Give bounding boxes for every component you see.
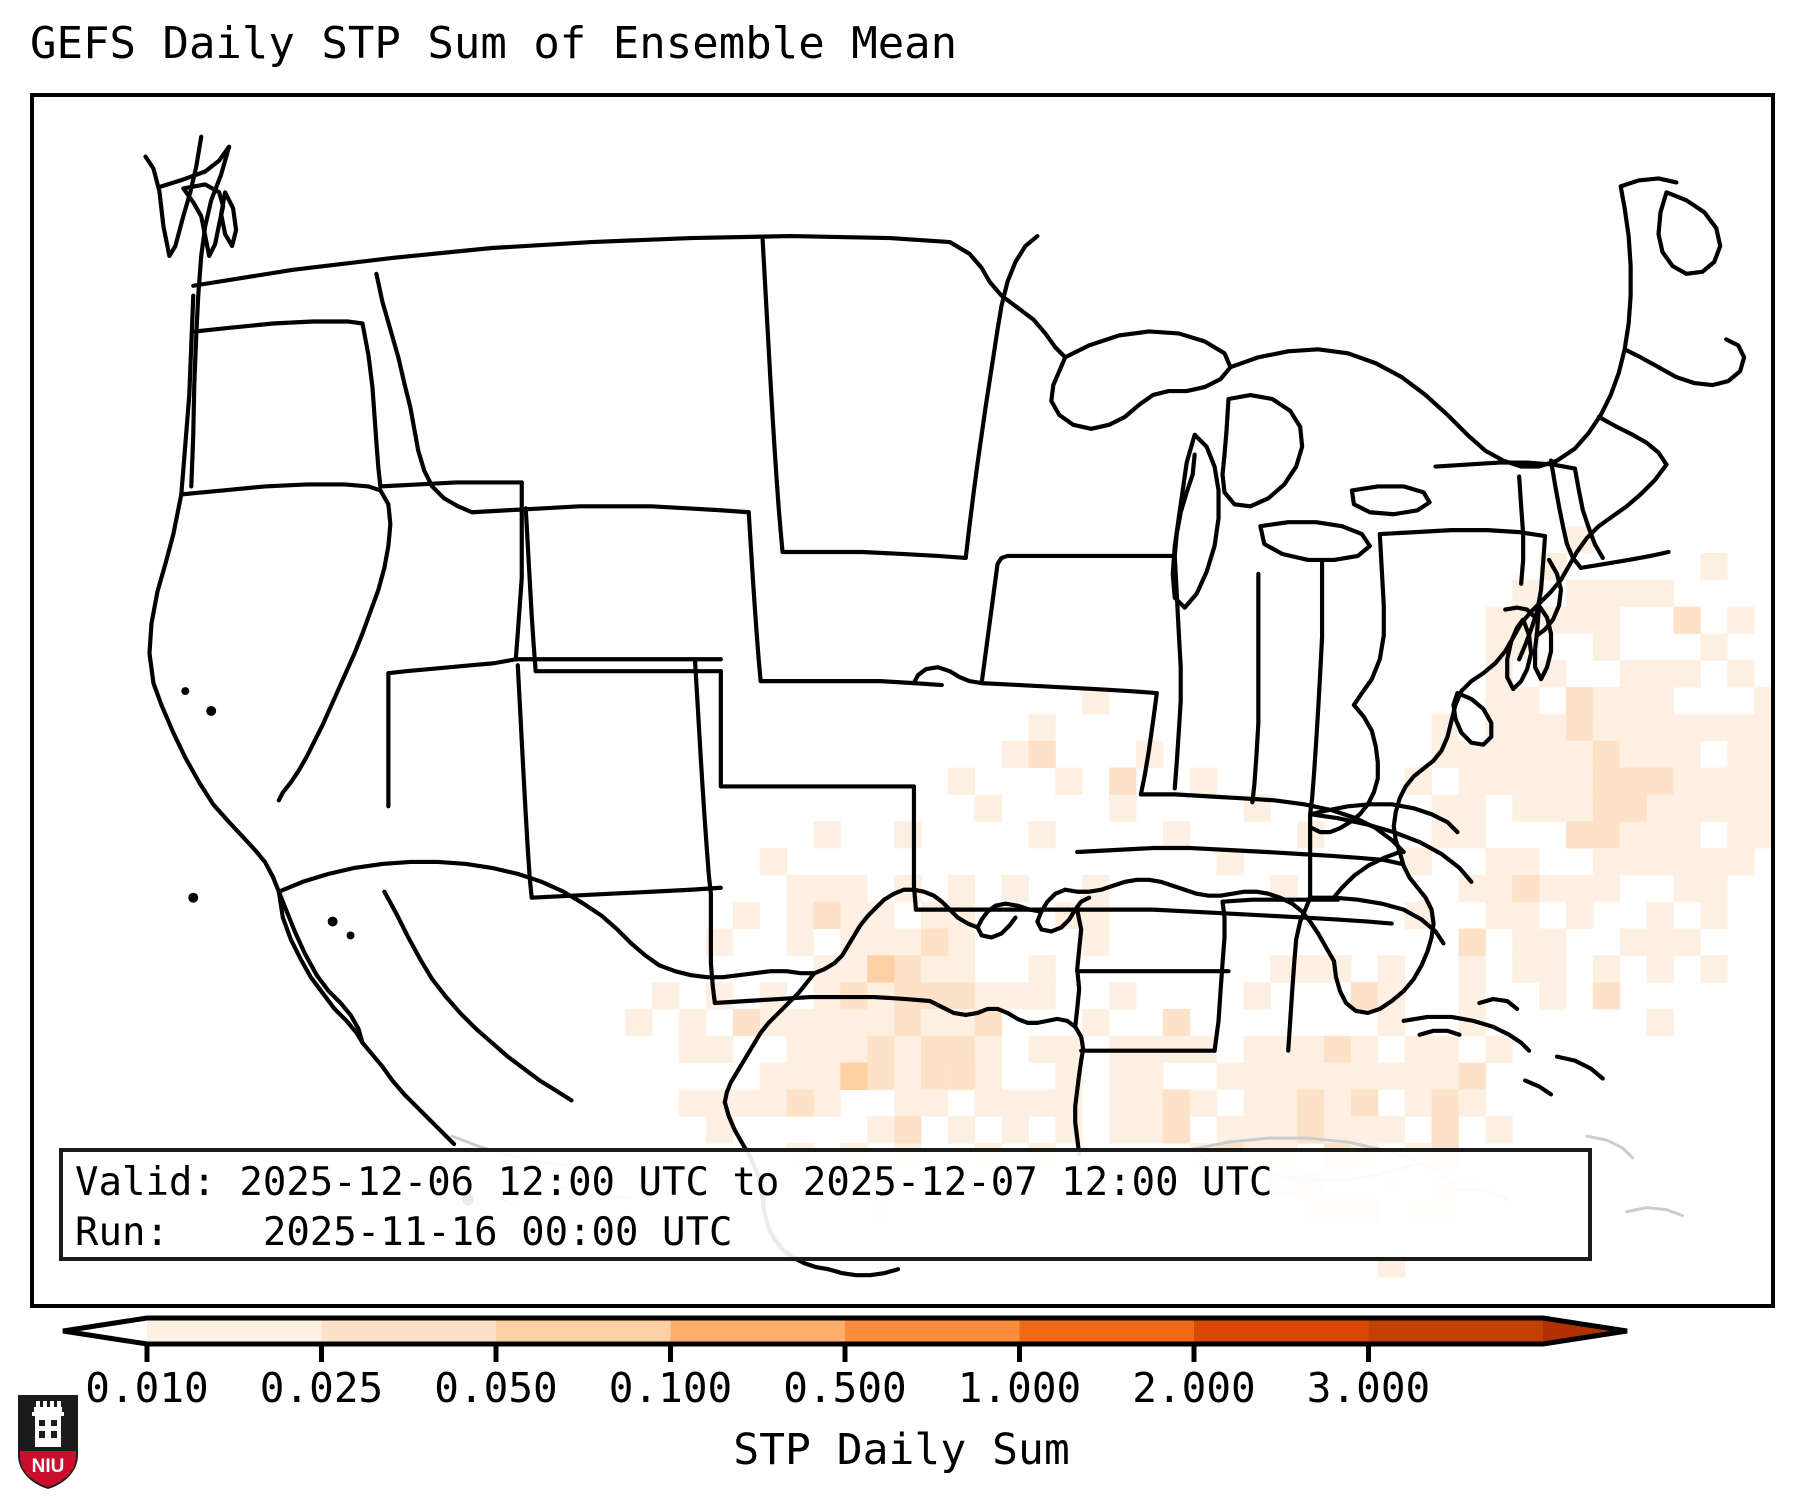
colorbar-segment: [147, 1318, 322, 1344]
colorbar-segment: [322, 1318, 497, 1344]
colorbar-tick-label: 0.500: [745, 1366, 945, 1410]
niu-wordmark: NIU: [32, 1456, 65, 1477]
valid-time-line: Valid: 2025-12-06 12:00 UTC to 2025-12-0…: [75, 1158, 1588, 1208]
colorbar-ticks: [147, 1344, 1369, 1362]
colorbar: 0.0100.0250.0500.1000.5001.0002.0003.000: [0, 1308, 1803, 1418]
colorbar-segment: [1020, 1318, 1195, 1344]
run-time-line: Run: 2025-11-16 00:00 UTC: [75, 1208, 1588, 1258]
niu-logo: NIU: [14, 1393, 82, 1491]
valid-run-info-box: Valid: 2025-12-06 12:00 UTC to 2025-12-0…: [59, 1148, 1592, 1261]
colorbar-axis-title: STP Daily Sum: [0, 1422, 1803, 1478]
colorbar-tick-label: 1.000: [920, 1366, 1120, 1410]
colorbar-segment: [496, 1318, 671, 1344]
colorbar-segment: [1194, 1318, 1369, 1344]
colorbar-tick-label: 0.100: [571, 1366, 771, 1410]
colorbar-segments: [63, 1318, 1627, 1344]
colorbar-tick-label: 0.050: [396, 1366, 596, 1410]
map-plot-area: [30, 93, 1775, 1308]
colorbar-segment: [1369, 1318, 1544, 1344]
colorbar-segment: [845, 1318, 1020, 1344]
map-geography-layer: [34, 97, 1771, 1304]
page-title: GEFS Daily STP Sum of Ensemble Mean: [30, 16, 957, 72]
colorbar-tick-label: 3.000: [1269, 1366, 1469, 1410]
colorbar-tick-label: 2.000: [1094, 1366, 1294, 1410]
colorbar-tick-label: 0.025: [222, 1366, 422, 1410]
colorbar-segment: [671, 1318, 846, 1344]
